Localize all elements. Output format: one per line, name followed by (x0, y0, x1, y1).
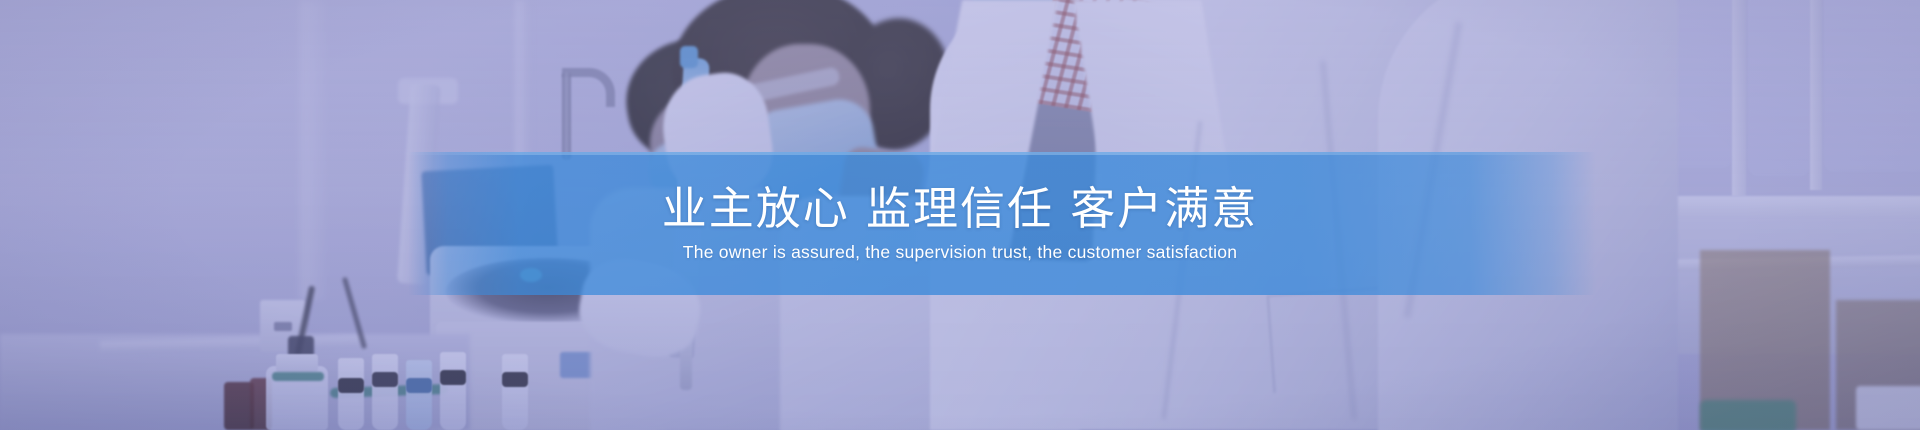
hero-banner: 业主放心 监理信任 客户满意 The owner is assured, the… (0, 0, 1920, 430)
banner-headline: 业主放心 监理信任 客户满意 (662, 186, 1259, 231)
banner-text-block: 业主放心 监理信任 客户满意 The owner is assured, the… (0, 152, 1920, 295)
banner-subline: The owner is assured, the supervision tr… (683, 244, 1237, 262)
